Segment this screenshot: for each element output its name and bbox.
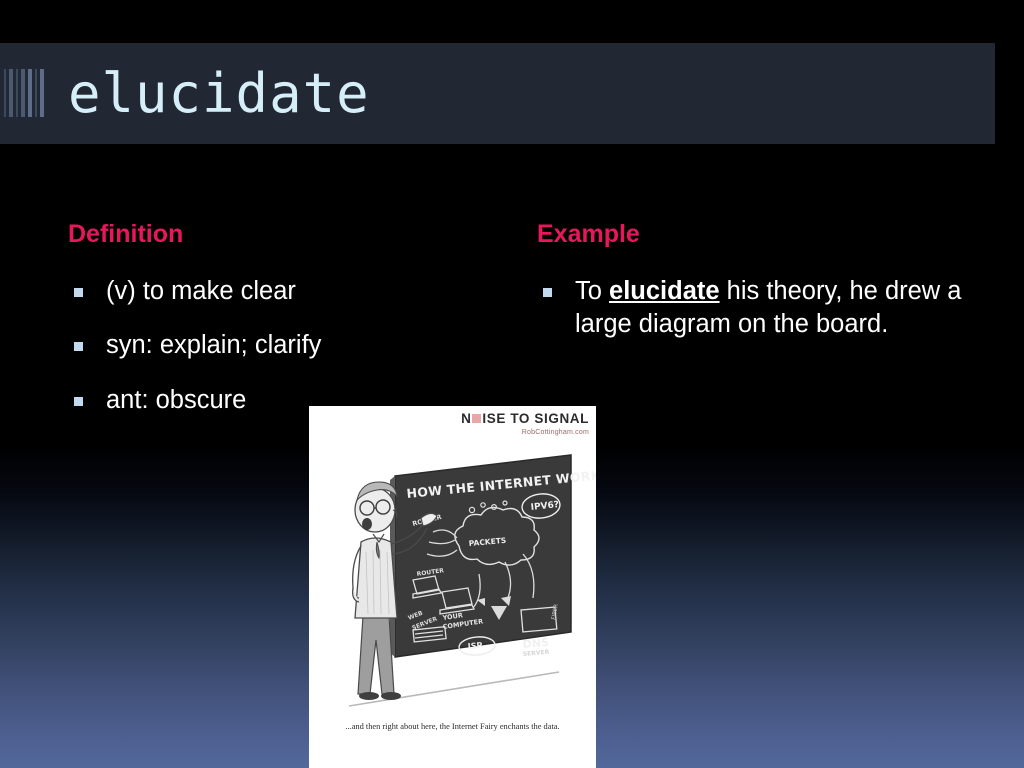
logo-suffix: ISE TO SIGNAL (482, 411, 589, 426)
page-title: elucidate (68, 67, 370, 121)
barcode-decoration-icon (4, 69, 50, 123)
noise-to-signal-logo: NISE TO SIGNAL RobCottingham.com (461, 412, 589, 436)
list-item-label: ant: obscure (106, 386, 246, 414)
logo-wordmark: NISE TO SIGNAL (461, 412, 589, 426)
example-section: Example To elucidate his theory, he drew… (537, 221, 977, 342)
list-item-label: (v) to make clear (106, 277, 296, 305)
logo-prefix: N (461, 411, 471, 426)
example-bullet-list: To elucidate his theory, he drew a large… (537, 275, 977, 342)
cartoon-illustration: HOW THE INTERNET WORKS PACKETS IPV6? ROU… (309, 434, 596, 724)
cartoon-image-panel: NISE TO SIGNAL RobCottingham.com HOW THE… (309, 406, 596, 768)
keyword-elucidate: elucidate (609, 277, 720, 305)
sentence-prefix: To (575, 277, 609, 305)
example-sentence: To elucidate his theory, he drew a large… (575, 277, 961, 339)
definition-heading: Definition (68, 221, 488, 249)
list-item: (v) to make clear (68, 275, 488, 309)
svg-text:SERVER: SERVER (523, 649, 550, 658)
svg-text:ISP: ISP (467, 641, 482, 651)
definition-bullet-list: (v) to make clear syn: explain; clarify … (68, 275, 488, 418)
logo-o-box-icon (472, 414, 481, 423)
square-bullet-icon (74, 342, 83, 351)
list-item: syn: explain; clarify (68, 329, 488, 363)
square-bullet-icon (543, 288, 552, 297)
list-item: To elucidate his theory, he drew a large… (537, 275, 977, 342)
cartoon-caption: ...and then right about here, the Intern… (309, 722, 596, 732)
square-bullet-icon (74, 397, 83, 406)
list-item-label: syn: explain; clarify (106, 331, 321, 359)
example-heading: Example (537, 221, 977, 249)
presentation-slide: elucidate Definition (v) to make clear s… (0, 0, 1024, 768)
square-bullet-icon (74, 288, 83, 297)
slide-title-bar: elucidate (0, 43, 995, 144)
